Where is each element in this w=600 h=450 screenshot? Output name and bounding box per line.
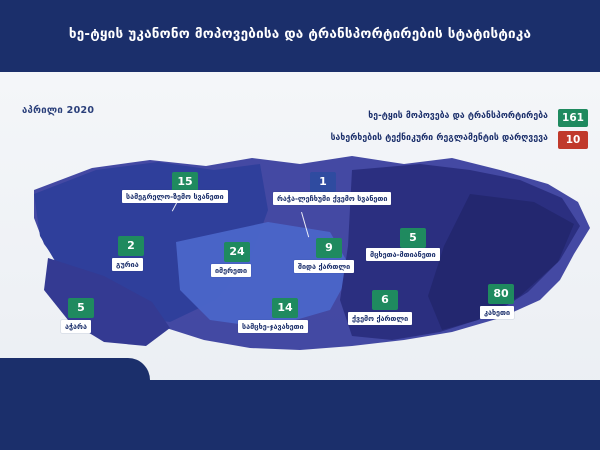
region-name-label: მცხეთა-მთიანეთი (366, 248, 440, 261)
region-name-label: შიდა ქართლი (294, 260, 354, 273)
region-name-label: რაჭა-ლეჩხუმი ქვემო სვანეთი (273, 192, 391, 205)
stat-label-regulation: სახერხების ტექნიკური რეგლამენტის დარღვევ… (331, 133, 548, 143)
region-name-label: იმერეთი (211, 264, 251, 277)
region-value-badge: 15 (172, 172, 198, 192)
region-value-badge: 6 (372, 290, 398, 310)
region-value-badge: 14 (272, 298, 298, 318)
region-name-label: კახეთი (480, 306, 514, 319)
region-name-label: სამცხე-ჯავახეთი (238, 320, 308, 333)
region-value-badge: 1 (310, 172, 336, 192)
period-label: აპრილი 2020 (22, 105, 94, 116)
region-value-badge: 24 (224, 242, 250, 262)
region-value-badge: 80 (488, 284, 514, 304)
page-title: ხე-ტყის უკანონო მოპოვებისა და ტრანსპორტი… (0, 26, 600, 42)
region-name-label: აჭარა (61, 320, 91, 333)
stat-label-cases: ხე-ტყის მოპოვება და ტრანსპორტირება (368, 111, 548, 121)
region-name-label: გურია (112, 258, 143, 271)
stat-value-regulation: 10 (558, 131, 588, 149)
region-value-badge: 9 (316, 238, 342, 258)
region-value-badge: 2 (118, 236, 144, 256)
region-value-badge: 5 (68, 298, 94, 318)
region-name-label: ქვემო ქართლი (348, 312, 412, 325)
stat-value-cases: 161 (558, 109, 588, 127)
footer-bar: სულ ჯამი 153 (0, 380, 600, 450)
infographic-root: ხე-ტყის უკანონო მოპოვებისა და ტრანსპორტი… (0, 0, 600, 450)
region-value-badge: 5 (400, 228, 426, 248)
header-bar: ხე-ტყის უკანონო მოპოვებისა და ტრანსპორტი… (0, 0, 600, 72)
region-name-label: სამეგრელო-ზემო სვანეთი (122, 190, 228, 203)
